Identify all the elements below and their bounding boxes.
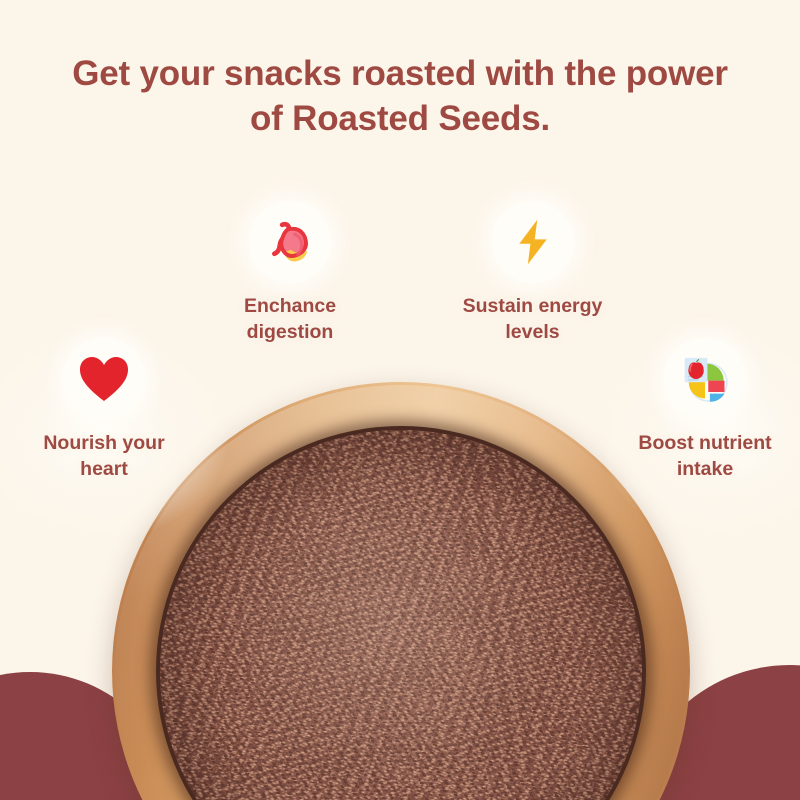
promo-banner: Get your snacks roasted with the power o… (0, 0, 800, 800)
benefit-badge-energy (492, 201, 574, 283)
bowl-of-roasted-flax-seeds (112, 382, 690, 800)
benefit-nourish-heart: Nourish your heart (20, 338, 188, 483)
benefit-label-energy: Sustain energy levels (455, 294, 610, 346)
stomach-icon (265, 217, 315, 267)
benefit-sustain-energy: Sustain energy levels (455, 201, 610, 346)
headline: Get your snacks roasted with the power o… (60, 52, 740, 142)
roasted-flax-seeds (160, 430, 642, 800)
benefit-label-nutrient: Boost nutrient intake (620, 431, 790, 483)
benefit-badge-heart (63, 338, 145, 420)
benefit-badge-nutrient (664, 338, 746, 420)
benefit-label-heart: Nourish your heart (20, 431, 188, 483)
benefit-badge-digestion (249, 201, 331, 283)
lightning-bolt-icon (511, 218, 555, 266)
benefit-label-digestion: Enchance digestion (215, 294, 365, 346)
heart-icon (78, 355, 130, 403)
benefit-enchance-digestion: Enchance digestion (215, 201, 365, 346)
benefit-boost-nutrient-intake: Boost nutrient intake (620, 338, 790, 483)
nutrition-chart-icon (679, 353, 731, 405)
